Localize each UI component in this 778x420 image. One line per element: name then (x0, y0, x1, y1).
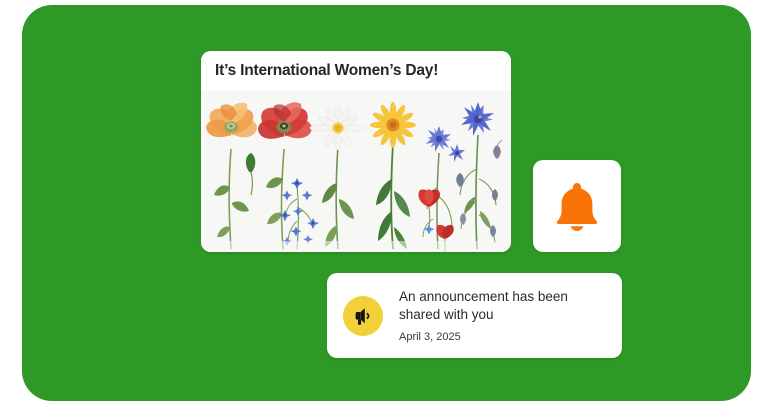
bell-icon (553, 181, 601, 231)
notification-date: April 3, 2025 (399, 331, 604, 343)
megaphone-icon (352, 305, 374, 327)
notification-text-block: An announcement has been shared with you… (399, 288, 604, 343)
announcement-notification-card[interactable]: An announcement has been shared with you… (327, 273, 622, 358)
wildflowers-illustration (201, 91, 511, 252)
announcement-card-header: It’s International Women’s Day! (201, 51, 511, 91)
green-background-panel: It’s International Women’s Day! (22, 5, 751, 401)
announcement-image-card[interactable]: It’s International Women’s Day! (201, 51, 511, 252)
notification-bell-card[interactable] (533, 160, 621, 252)
announcement-title: It’s International Women’s Day! (215, 62, 438, 80)
notification-avatar (343, 296, 383, 336)
notification-title: An announcement has been shared with you (399, 288, 604, 324)
